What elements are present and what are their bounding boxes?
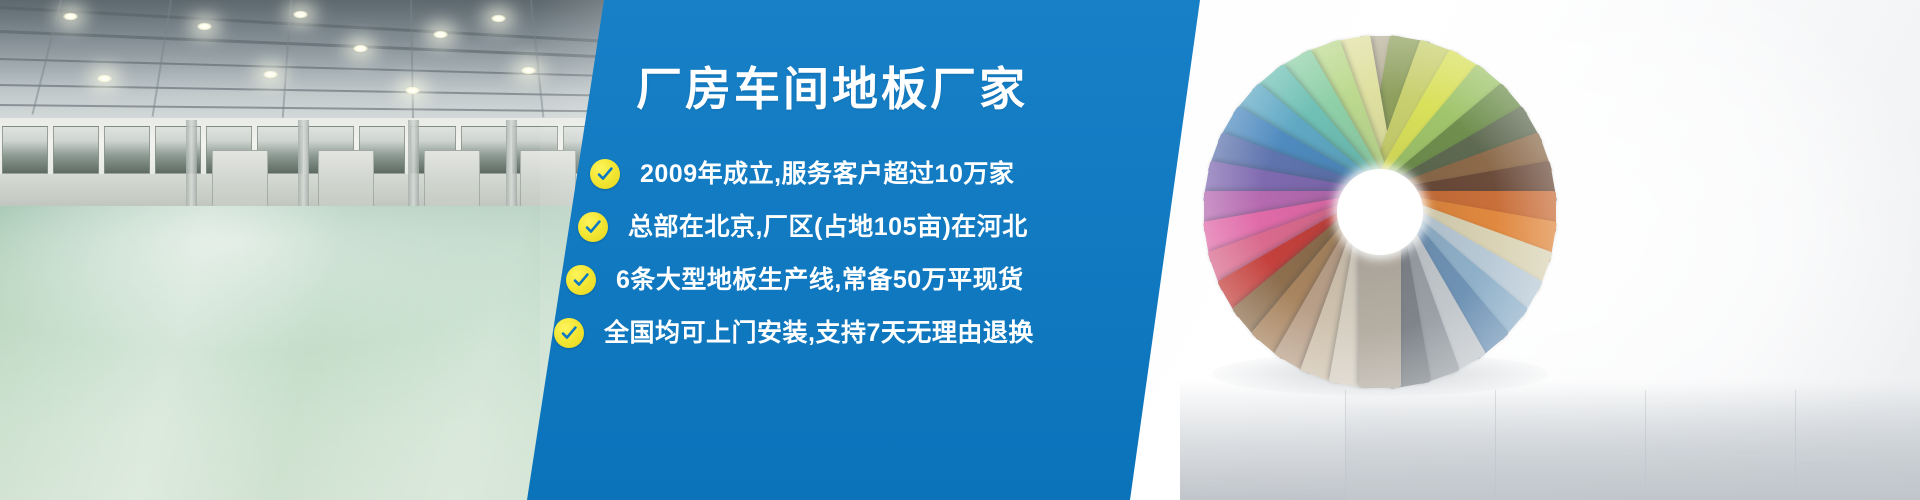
tile-seam-1	[1345, 390, 1496, 500]
ceiling-light	[62, 12, 79, 21]
feature-item: 总部在北京,厂区(占地105亩)在河北	[546, 201, 1106, 254]
tile-seam-2	[1495, 390, 1646, 500]
ceiling-light	[404, 86, 421, 95]
feature-text: 6条大型地板生产线,常备50万平现货	[616, 268, 1024, 293]
check-circle-icon	[578, 212, 608, 242]
check-circle-icon	[554, 318, 584, 348]
ceiling-light	[490, 14, 507, 23]
promo-banner: 厂房车间地板厂家 2009年成立,服务客户超过10万家 总部在北京,厂区(占地1…	[0, 0, 1920, 500]
ceiling-light	[432, 30, 449, 39]
window-pane	[53, 126, 99, 174]
swatch-wheel-hub	[1337, 169, 1423, 255]
flooring-swatch-wheel	[1190, 22, 1570, 402]
tile-seam-3	[1645, 390, 1796, 500]
ceiling-light	[96, 74, 113, 83]
feature-text: 2009年成立,服务客户超过10万家	[640, 162, 1014, 187]
check-circle-icon	[590, 159, 620, 189]
feature-item: 6条大型地板生产线,常备50万平现货	[546, 254, 1106, 307]
banner-content: 厂房车间地板厂家 2009年成立,服务客户超过10万家 总部在北京,厂区(占地1…	[546, 0, 1106, 500]
ceiling-light	[520, 66, 537, 75]
ceiling-light	[292, 10, 309, 19]
tile-seam-4	[1795, 390, 1920, 500]
window-pane	[2, 126, 48, 174]
feature-item: 全国均可上门安装,支持7天无理由退换	[546, 307, 1106, 360]
check-circle-icon	[566, 265, 596, 295]
feature-item: 2009年成立,服务客户超过10万家	[546, 148, 1106, 201]
feature-text: 总部在北京,厂区(占地105亩)在河北	[628, 215, 1028, 240]
window-pane	[104, 126, 150, 174]
ceiling-light	[352, 44, 369, 53]
banner-headline: 厂房车间地板厂家	[636, 66, 1028, 112]
ceiling-light	[196, 22, 213, 31]
feature-list: 2009年成立,服务客户超过10万家 总部在北京,厂区(占地105亩)在河北 6…	[546, 148, 1106, 360]
ceiling-light	[262, 70, 279, 79]
feature-text: 全国均可上门安装,支持7天无理由退换	[604, 321, 1034, 346]
